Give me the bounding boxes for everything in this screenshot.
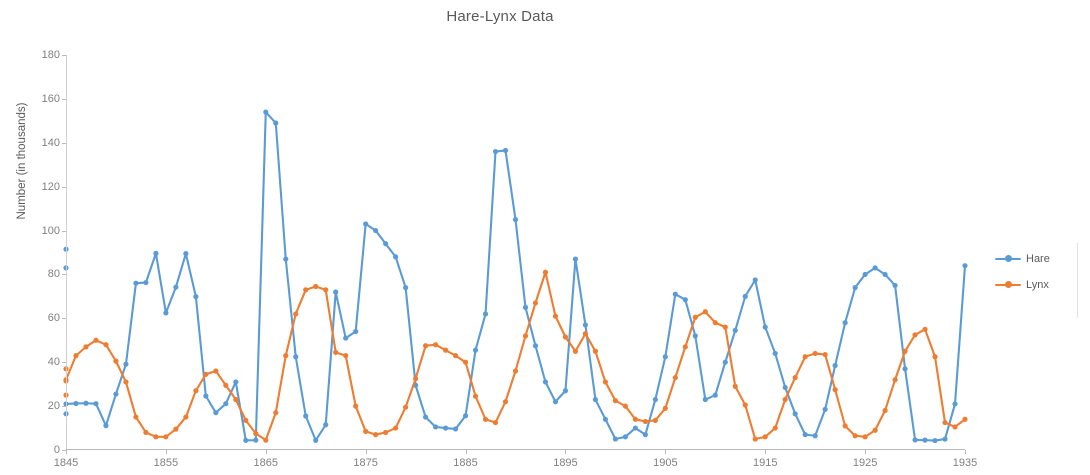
data-point[interactable] <box>783 385 788 390</box>
data-point[interactable] <box>263 109 268 114</box>
plot-area: 020406080100120140160180 184518551865187… <box>66 55 965 450</box>
x-tick-label: 1845 <box>54 457 78 469</box>
data-point[interactable] <box>243 438 248 443</box>
data-point[interactable] <box>83 344 88 349</box>
data-point[interactable] <box>873 265 878 270</box>
data-point[interactable] <box>563 388 568 393</box>
data-point[interactable] <box>473 394 478 399</box>
data-point[interactable] <box>533 343 538 348</box>
data-point[interactable] <box>813 351 818 356</box>
data-point[interactable] <box>613 398 618 403</box>
data-point[interactable] <box>183 251 188 256</box>
data-point[interactable] <box>383 430 388 435</box>
data-point[interactable] <box>793 411 798 416</box>
x-tick-mark <box>466 450 467 454</box>
data-point[interactable] <box>113 359 118 364</box>
data-point[interactable] <box>123 379 128 384</box>
data-point[interactable] <box>283 256 288 261</box>
data-point[interactable] <box>133 414 138 419</box>
data-point[interactable] <box>863 434 868 439</box>
data-point[interactable] <box>723 325 728 330</box>
legend-item-hare[interactable]: Hare <box>995 246 1085 272</box>
chart-title: Hare-Lynx Data <box>0 8 1000 25</box>
y-tick-mark <box>62 55 66 56</box>
data-point[interactable] <box>73 401 78 406</box>
data-point[interactable] <box>323 422 328 427</box>
x-axis-line <box>66 449 965 450</box>
data-point[interactable] <box>713 393 718 398</box>
data-point[interactable] <box>663 406 668 411</box>
data-point[interactable] <box>773 351 778 356</box>
data-point[interactable] <box>393 254 398 259</box>
legend-label-lynx: Lynx <box>1026 279 1049 291</box>
data-point[interactable] <box>93 338 98 343</box>
series-layer <box>66 55 965 450</box>
y-tick-label: 120 <box>42 181 60 193</box>
data-point[interactable] <box>563 334 568 339</box>
data-point[interactable] <box>743 294 748 299</box>
y-tick-label: 140 <box>42 137 60 149</box>
data-point[interactable] <box>193 294 198 299</box>
data-point[interactable] <box>763 434 768 439</box>
data-point[interactable] <box>573 349 578 354</box>
data-point[interactable] <box>823 352 828 357</box>
data-point[interactable] <box>473 348 478 353</box>
series-line-hare <box>66 112 965 441</box>
data-point[interactable] <box>83 401 88 406</box>
data-point[interactable] <box>103 342 108 347</box>
data-point[interactable] <box>283 353 288 358</box>
data-point[interactable] <box>383 241 388 246</box>
data-point[interactable] <box>253 438 258 443</box>
series-lynx <box>63 270 967 443</box>
legend-swatch-hare <box>995 253 1021 265</box>
x-tick-mark <box>66 450 67 454</box>
data-point[interactable] <box>653 397 658 402</box>
data-point[interactable] <box>633 425 638 430</box>
data-point[interactable] <box>403 285 408 290</box>
data-point[interactable] <box>853 285 858 290</box>
data-point[interactable] <box>133 281 138 286</box>
data-point[interactable] <box>743 402 748 407</box>
data-point[interactable] <box>293 354 298 359</box>
data-point[interactable] <box>273 410 278 415</box>
data-point[interactable] <box>293 311 298 316</box>
data-point[interactable] <box>803 354 808 359</box>
data-point[interactable] <box>113 391 118 396</box>
data-point[interactable] <box>643 432 648 437</box>
data-point[interactable] <box>533 300 538 305</box>
data-point[interactable] <box>922 438 927 443</box>
data-point[interactable] <box>912 332 917 337</box>
data-point[interactable] <box>153 251 158 256</box>
data-point[interactable] <box>543 379 548 384</box>
data-point[interactable] <box>843 320 848 325</box>
y-tick-label: 180 <box>42 49 60 61</box>
y-tick-label: 0 <box>54 444 60 456</box>
data-point[interactable] <box>203 393 208 398</box>
data-point[interactable] <box>892 283 897 288</box>
data-point[interactable] <box>453 353 458 358</box>
data-point[interactable] <box>623 434 628 439</box>
data-point[interactable] <box>183 414 188 419</box>
x-tick-mark <box>166 450 167 454</box>
data-point[interactable] <box>603 417 608 422</box>
x-tick-mark <box>366 450 367 454</box>
data-point[interactable] <box>303 287 308 292</box>
y-tick-mark <box>62 318 66 319</box>
data-point[interactable] <box>693 315 698 320</box>
data-point[interactable] <box>643 419 648 424</box>
data-point[interactable] <box>193 388 198 393</box>
data-point[interactable] <box>143 280 148 285</box>
data-point[interactable] <box>303 413 308 418</box>
data-point[interactable] <box>683 297 688 302</box>
data-point[interactable] <box>623 404 628 409</box>
data-point[interactable] <box>603 379 608 384</box>
data-point[interactable] <box>393 425 398 430</box>
data-point[interactable] <box>703 309 708 314</box>
y-axis-line <box>66 55 67 450</box>
data-point[interactable] <box>613 436 618 441</box>
data-point[interactable] <box>443 425 448 430</box>
x-tick-label: 1885 <box>453 457 477 469</box>
data-point[interactable] <box>503 399 508 404</box>
y-tick-mark <box>62 143 66 144</box>
data-point[interactable] <box>803 432 808 437</box>
data-point[interactable] <box>363 221 368 226</box>
data-point[interactable] <box>213 368 218 373</box>
data-point[interactable] <box>213 410 218 415</box>
data-point[interactable] <box>873 428 878 433</box>
x-tick-label: 1855 <box>154 457 178 469</box>
data-point[interactable] <box>932 438 937 443</box>
data-point[interactable] <box>353 404 358 409</box>
data-point[interactable] <box>463 360 468 365</box>
data-point[interactable] <box>373 432 378 437</box>
x-tick-mark <box>565 450 566 454</box>
data-point[interactable] <box>932 354 937 359</box>
data-point[interactable] <box>962 417 967 422</box>
y-tick-mark <box>62 362 66 363</box>
data-point[interactable] <box>833 363 838 368</box>
data-point[interactable] <box>233 397 238 402</box>
data-point[interactable] <box>483 311 488 316</box>
data-point[interactable] <box>263 438 268 443</box>
data-point[interactable] <box>513 368 518 373</box>
y-tick-label: 60 <box>48 312 60 324</box>
x-tick-label: 1865 <box>254 457 278 469</box>
data-point[interactable] <box>583 331 588 336</box>
data-point[interactable] <box>553 399 558 404</box>
data-point[interactable] <box>892 377 897 382</box>
data-point[interactable] <box>823 407 828 412</box>
data-point[interactable] <box>343 353 348 358</box>
data-point[interactable] <box>333 350 338 355</box>
y-tick-label: 80 <box>48 268 60 280</box>
data-point[interactable] <box>783 397 788 402</box>
data-point[interactable] <box>952 401 957 406</box>
x-tick-mark <box>865 450 866 454</box>
data-point[interactable] <box>703 397 708 402</box>
data-point[interactable] <box>163 434 168 439</box>
data-point[interactable] <box>902 349 907 354</box>
data-point[interactable] <box>733 384 738 389</box>
data-point[interactable] <box>653 418 658 423</box>
data-point[interactable] <box>683 344 688 349</box>
data-point[interactable] <box>763 325 768 330</box>
data-point[interactable] <box>663 354 668 359</box>
data-point[interactable] <box>403 405 408 410</box>
y-axis-title: Number (in thousands) <box>16 51 28 271</box>
series-hare <box>63 109 967 443</box>
data-point[interactable] <box>163 310 168 315</box>
legend-label-hare: Hare <box>1026 253 1050 265</box>
data-point[interactable] <box>223 401 228 406</box>
x-tick-mark <box>665 450 666 454</box>
data-point[interactable] <box>493 420 498 425</box>
data-point[interactable] <box>423 414 428 419</box>
data-point[interactable] <box>593 349 598 354</box>
x-tick-label: 1895 <box>553 457 577 469</box>
data-point[interactable] <box>863 272 868 277</box>
data-point[interactable] <box>583 322 588 327</box>
data-point[interactable] <box>73 353 78 358</box>
data-point[interactable] <box>853 433 858 438</box>
y-tick-label: 160 <box>42 93 60 105</box>
data-point[interactable] <box>922 327 927 332</box>
data-point[interactable] <box>773 425 778 430</box>
data-point[interactable] <box>793 375 798 380</box>
x-tick-label: 1925 <box>853 457 877 469</box>
data-point[interactable] <box>833 387 838 392</box>
data-point[interactable] <box>373 228 378 233</box>
data-point[interactable] <box>523 333 528 338</box>
data-point[interactable] <box>503 148 508 153</box>
x-tick-label: 1915 <box>753 457 777 469</box>
data-point[interactable] <box>413 376 418 381</box>
data-point[interactable] <box>553 314 558 319</box>
y-tick-mark <box>62 406 66 407</box>
data-point[interactable] <box>513 217 518 222</box>
x-tick-mark <box>765 450 766 454</box>
x-tick-label: 1905 <box>653 457 677 469</box>
data-point[interactable] <box>173 285 178 290</box>
data-point[interactable] <box>323 287 328 292</box>
data-point[interactable] <box>223 383 228 388</box>
data-point[interactable] <box>443 348 448 353</box>
data-point[interactable] <box>573 256 578 261</box>
data-point[interactable] <box>313 438 318 443</box>
data-point[interactable] <box>902 366 907 371</box>
data-point[interactable] <box>93 401 98 406</box>
data-point[interactable] <box>593 397 598 402</box>
data-point[interactable] <box>173 427 178 432</box>
data-point[interactable] <box>313 284 318 289</box>
data-point[interactable] <box>753 277 758 282</box>
data-point[interactable] <box>942 420 947 425</box>
data-point[interactable] <box>962 263 967 268</box>
y-tick-label: 40 <box>48 356 60 368</box>
data-point[interactable] <box>203 372 208 377</box>
data-point[interactable] <box>952 424 957 429</box>
x-tick-label: 1935 <box>953 457 977 469</box>
x-tick-mark <box>965 450 966 454</box>
data-point[interactable] <box>882 408 887 413</box>
data-point[interactable] <box>523 305 528 310</box>
y-tick-mark <box>62 99 66 100</box>
data-point[interactable] <box>753 436 758 441</box>
data-point[interactable] <box>673 292 678 297</box>
data-point[interactable] <box>333 289 338 294</box>
data-point[interactable] <box>843 423 848 428</box>
data-point[interactable] <box>363 429 368 434</box>
data-point[interactable] <box>253 431 258 436</box>
data-point[interactable] <box>123 362 128 367</box>
legend-swatch-lynx <box>995 279 1021 291</box>
data-point[interactable] <box>343 335 348 340</box>
data-point[interactable] <box>942 436 947 441</box>
data-point[interactable] <box>103 423 108 428</box>
data-point[interactable] <box>633 417 638 422</box>
chart-legend: Hare Lynx <box>995 246 1085 298</box>
x-tick-label: 1875 <box>353 457 377 469</box>
data-point[interactable] <box>733 328 738 333</box>
data-point[interactable] <box>813 433 818 438</box>
chart-container: Hare-Lynx Data Number (in thousands) 020… <box>0 0 1090 475</box>
data-point[interactable] <box>233 379 238 384</box>
data-point[interactable] <box>693 333 698 338</box>
legend-item-lynx[interactable]: Lynx <box>995 272 1085 298</box>
data-point[interactable] <box>153 434 158 439</box>
data-point[interactable] <box>433 424 438 429</box>
y-tick-mark <box>62 187 66 188</box>
data-point[interactable] <box>433 342 438 347</box>
y-tick-mark <box>62 231 66 232</box>
data-point[interactable] <box>423 343 428 348</box>
data-point[interactable] <box>673 375 678 380</box>
data-point[interactable] <box>543 270 548 275</box>
data-point[interactable] <box>243 418 248 423</box>
y-tick-label: 20 <box>48 400 60 412</box>
data-point[interactable] <box>353 329 358 334</box>
y-tick-mark <box>62 274 66 275</box>
data-point[interactable] <box>912 437 917 442</box>
data-point[interactable] <box>713 320 718 325</box>
data-point[interactable] <box>463 413 468 418</box>
y-tick-label: 100 <box>42 225 60 237</box>
data-point[interactable] <box>483 417 488 422</box>
data-point[interactable] <box>882 272 887 277</box>
data-point[interactable] <box>273 120 278 125</box>
x-tick-mark <box>266 450 267 454</box>
data-point[interactable] <box>493 149 498 154</box>
data-point[interactable] <box>453 426 458 431</box>
data-point[interactable] <box>723 360 728 365</box>
data-point[interactable] <box>143 430 148 435</box>
